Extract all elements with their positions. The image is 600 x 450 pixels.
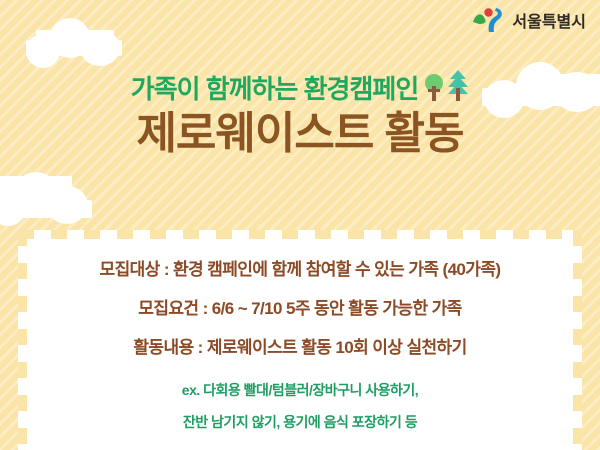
info-line-target: 모집대상 : 환경 캠페인에 함께 참여할 수 있는 가족 (40가족) — [18, 239, 582, 289]
info-card: 모집대상 : 환경 캠페인에 함께 참여할 수 있는 가족 (40가족) 모집요… — [18, 230, 582, 450]
example-line-1: ex. 다회용 빨대/텀블러/장바구니 사용하기, — [18, 367, 582, 406]
cloud-top-left — [36, 30, 114, 52]
info-line-requirement: 모집요건 : 6/6 ~ 7/10 5주 동안 활동 가능한 가족 — [18, 289, 582, 328]
page-title: 제로웨이스트 활동 — [0, 110, 600, 158]
example-line-2: 잔반 남기지 않기, 용기에 음식 포장하기 등 — [18, 406, 582, 438]
campaign-subtitle: 가족이 함께하는 환경캠페인 — [131, 69, 419, 106]
seoul-logo: 서울특별시 — [472, 6, 586, 34]
headline-block: 가족이 함께하는 환경캠페인 제로웨이스트 활동 — [0, 70, 600, 158]
cloud-mid-left — [0, 176, 72, 196]
tree-icons — [424, 70, 469, 104]
seoul-logo-text: 서울특별시 — [512, 8, 586, 32]
poster-canvas: 서울특별시 가족이 함께하는 환경캠페인 제로웨이스트 활동 — [0, 0, 600, 450]
card-top-notches — [18, 230, 582, 239]
info-line-activity: 활동내용 : 제로웨이스트 활동 10회 이상 실천하기 — [18, 328, 582, 367]
seoul-city-logo-icon — [472, 6, 506, 34]
evergreen-tree-icon — [447, 70, 469, 102]
deciduous-tree-icon — [424, 72, 444, 102]
subtitle-row: 가족이 함께하는 환경캠페인 — [0, 70, 600, 104]
card-content: 모집대상 : 환경 캠페인에 함께 참여할 수 있는 가족 (40가족) 모집요… — [18, 239, 582, 438]
